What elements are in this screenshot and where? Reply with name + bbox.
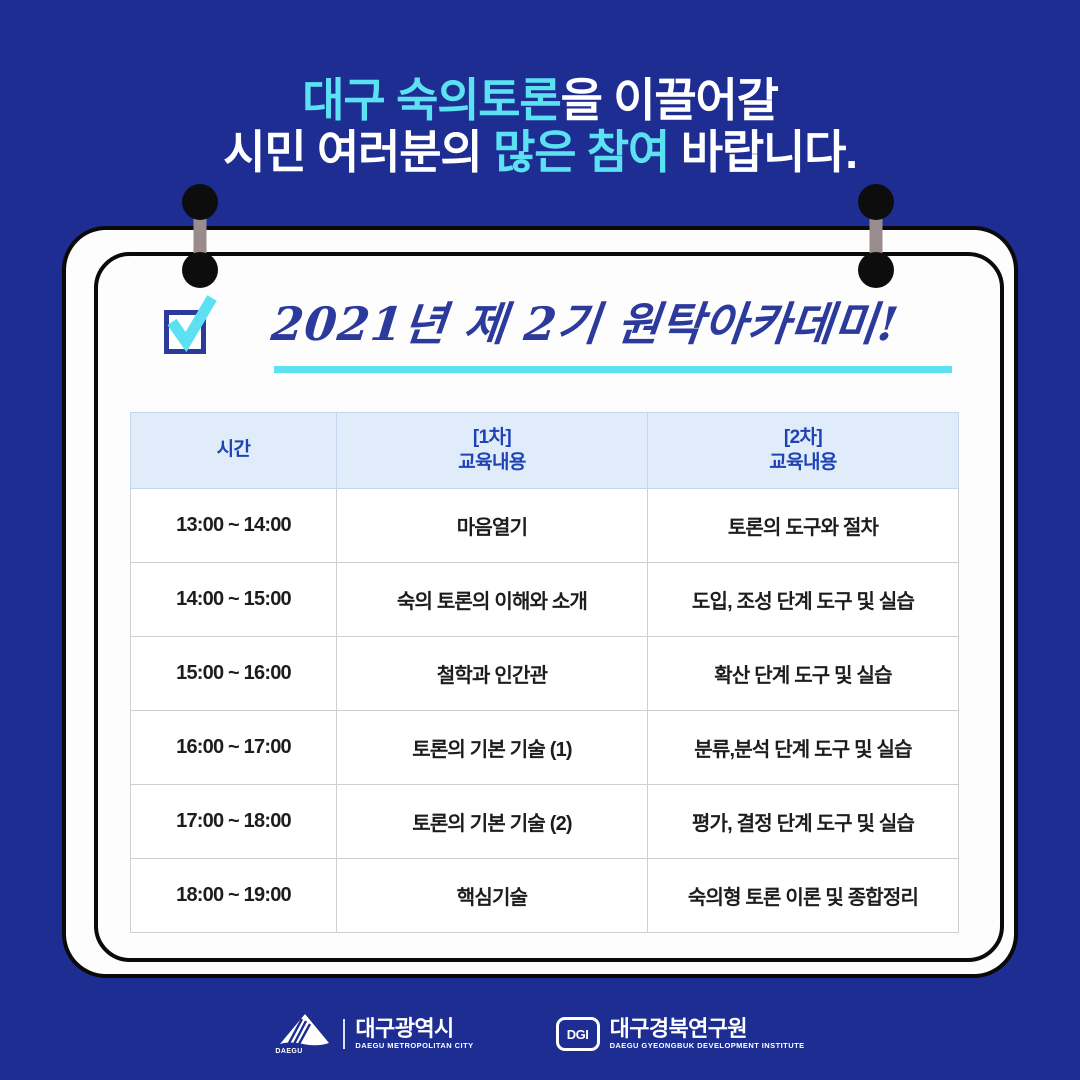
table-row: 15:00 ~ 16:00 철학과 인간관 확산 단계 도구 및 실습 [131,637,959,711]
table-row: 17:00 ~ 18:00 토론의 기본 기술 (2) 평가, 결정 단계 도구… [131,785,959,859]
cell-second-session: 평가, 결정 단계 도구 및 실습 [648,785,959,859]
cell-time: 14:00 ~ 15:00 [131,563,337,637]
schedule-card: 2021년 제 2기 원탁아카데미! 시간 [1차] 교육내용 [2차] 교육내… [62,226,1018,978]
table-row: 18:00 ~ 19:00 핵심기술 숙의형 토론 이론 및 종합정리 [131,859,959,933]
cell-time: 15:00 ~ 16:00 [131,637,337,711]
logo-daegu-gyeongbuk-development-institute: DGI 대구경북연구원 DAEGU GYEONGBUK DEVELOPMENT … [556,1017,805,1052]
column-header-second-bottom: 교육내용 [648,451,958,475]
logo-daegu-metropolitan-city: DAEGU 대구광역시 DAEGU METROPOLITAN CITY [275,1013,473,1055]
dgi-logo-text: 대구경북연구원 DAEGU GYEONGBUK DEVELOPMENT INST… [610,1017,805,1052]
table-row: 13:00 ~ 14:00 마음열기 토론의 도구와 절차 [131,489,959,563]
headline-line-2-accent: 많은 참여 [493,126,669,178]
cell-time: 18:00 ~ 19:00 [131,859,337,933]
table-row: 14:00 ~ 15:00 숙의 토론의 이해와 소개 도입, 조성 단계 도구… [131,563,959,637]
pin-knob-left-bottom [182,252,218,288]
headline-line-2-plain-end: 바랍니다. [669,126,857,178]
card-heading-row: 2021년 제 2기 원탁아카데미! [162,288,962,380]
cell-second-session: 숙의형 토론 이론 및 종합정리 [648,859,959,933]
pin-clip-right-icon [858,184,894,288]
pin-knob-right-top [858,184,894,220]
column-header-time: 시간 [131,413,337,489]
cell-second-session: 확산 단계 도구 및 실습 [648,637,959,711]
dgi-logo-icon: DGI [556,1017,600,1051]
headline-line-1-accent: 대구 숙의토론 [302,74,560,126]
pin-knob-left-top [182,184,218,220]
cell-time: 13:00 ~ 14:00 [131,489,337,563]
pin-clip-left-icon [182,184,218,288]
dgi-logo-en: DAEGU GYEONGBUK DEVELOPMENT INSTITUTE [610,1040,805,1051]
logo-divider [343,1019,345,1049]
table-row: 16:00 ~ 17:00 토론의 기본 기술 (1) 분류,분석 단계 도구 … [131,711,959,785]
cell-first-session: 토론의 기본 기술 (2) [337,785,648,859]
table-header-row: 시간 [1차] 교육내용 [2차] 교육내용 [131,413,959,489]
cell-time: 17:00 ~ 18:00 [131,785,337,859]
column-header-second-top: [2차] [648,426,958,450]
checkbox-checked-icon [162,302,212,354]
cell-second-session: 도입, 조성 단계 도구 및 실습 [648,563,959,637]
cell-time: 16:00 ~ 17:00 [131,711,337,785]
schedule-table: 시간 [1차] 교육내용 [2차] 교육내용 13:00 ~ 14:00 마음열… [130,412,959,933]
cell-first-session: 숙의 토론의 이해와 소개 [337,563,648,637]
card-heading-underline [274,366,952,373]
column-header-first-session: [1차] 교육내용 [337,413,648,489]
dgi-logo-ko: 대구경북연구원 [610,1017,805,1041]
column-header-second-session: [2차] 교육내용 [648,413,959,489]
cell-second-session: 분류,분석 단계 도구 및 실습 [648,711,959,785]
daegu-logo-ko: 대구광역시 [355,1017,473,1041]
cell-first-session: 토론의 기본 기술 (1) [337,711,648,785]
column-header-first-bottom: 교육내용 [337,451,647,475]
cell-first-session: 핵심기술 [337,859,648,933]
footer-logos: DAEGU 대구광역시 DAEGU METROPOLITAN CITY DGI … [0,1004,1080,1064]
cell-second-session: 토론의 도구와 절차 [648,489,959,563]
headline-block: 대구 숙의토론을 이끌어갈 시민 여러분의 많은 참여 바랍니다. [0,74,1080,179]
headline-line-2: 시민 여러분의 많은 참여 바랍니다. [0,126,1080,178]
card-heading-text: 2021년 제 2기 원탁아카데미! [269,288,903,354]
headline-line-1-plain: 을 이끌어갈 [561,74,778,126]
daegu-triangle-logo-icon: DAEGU [275,1013,333,1055]
cell-first-session: 마음열기 [337,489,648,563]
headline-line-2-plain-start: 시민 여러분의 [223,126,493,178]
daegu-logo-text: 대구광역시 DAEGU METROPOLITAN CITY [355,1017,473,1052]
headline-line-1: 대구 숙의토론을 이끌어갈 [0,74,1080,126]
column-header-first-top: [1차] [337,426,647,450]
pin-knob-right-bottom [858,252,894,288]
daegu-logo-mark-caption: DAEGU [275,1048,333,1055]
daegu-logo-en: DAEGU METROPOLITAN CITY [355,1040,473,1051]
cell-first-session: 철학과 인간관 [337,637,648,711]
